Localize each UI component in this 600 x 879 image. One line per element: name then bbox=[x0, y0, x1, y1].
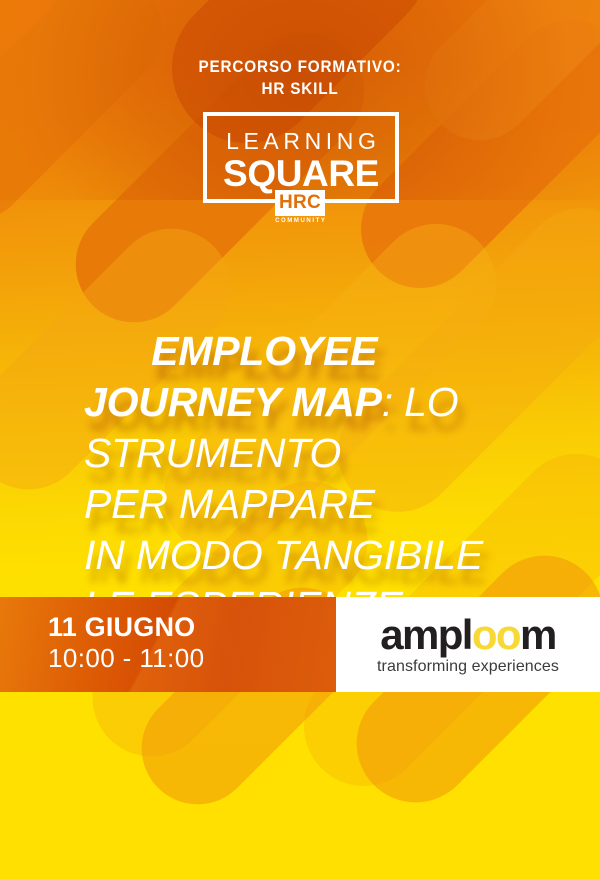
kicker-line-1: PERCORSO FORMATIVO: bbox=[30, 56, 570, 78]
amploom-wordmark: amploom bbox=[336, 614, 600, 656]
brand-line-square: SQUARE bbox=[207, 155, 395, 192]
poster-canvas: PERCORSO FORMATIVO: HR SKILL LEARNING SQ… bbox=[0, 0, 600, 879]
wordmark-part-2: m bbox=[520, 611, 556, 658]
brand-line-learning: LEARNING bbox=[207, 130, 395, 153]
sponsor-tagline: transforming experiences bbox=[336, 659, 600, 675]
event-datetime-bar: 11 GIUGNO 10:00 - 11:00 bbox=[0, 597, 336, 692]
headline-strong: EMPLOYEE JOURNEY MAP bbox=[84, 328, 389, 425]
hrc-badge-subtitle: COMMUNITY bbox=[0, 218, 600, 224]
wordmark-oo: oo bbox=[472, 611, 520, 658]
kicker-line-2: HR SKILL bbox=[30, 78, 570, 100]
wordmark-part-1: ampl bbox=[380, 611, 472, 658]
sponsor-logo-panel: amploom transforming experiences bbox=[336, 597, 600, 692]
hrc-badge-text: HRC bbox=[275, 190, 325, 216]
event-time: 10:00 - 11:00 bbox=[48, 645, 205, 671]
hrc-community-badge: HRC COMMUNITY bbox=[0, 190, 600, 224]
event-date: 11 GIUGNO bbox=[48, 614, 195, 641]
course-kicker: PERCORSO FORMATIVO: HR SKILL bbox=[30, 56, 570, 100]
